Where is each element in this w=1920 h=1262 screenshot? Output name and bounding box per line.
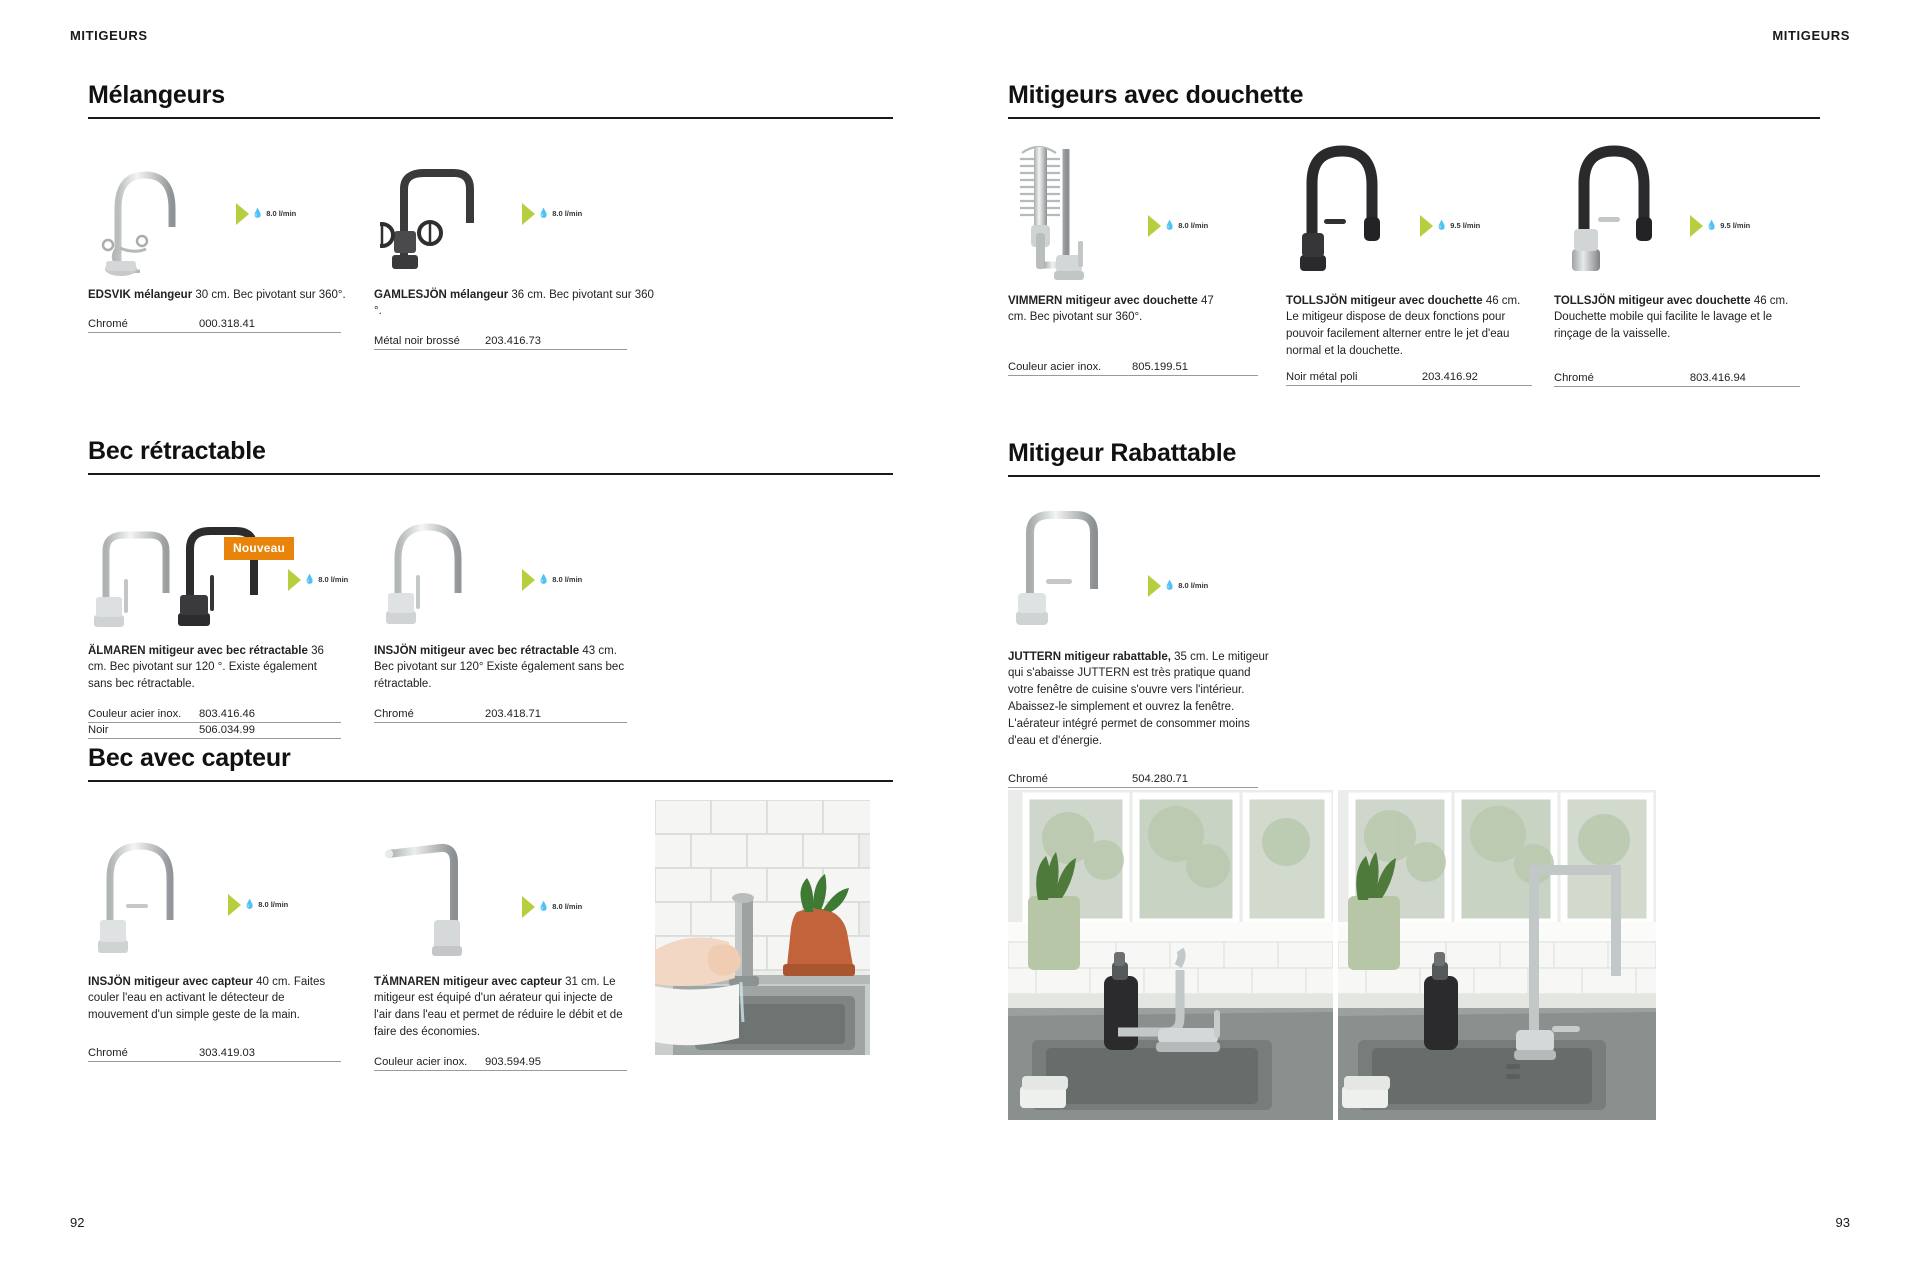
variant-row[interactable]: Chromé 203.418.71 [374, 707, 627, 723]
variant-label: Couleur acier inox. [374, 1056, 467, 1068]
product-row: Nouveau 💧 8.0 l/min ÄLMAREN mitigeur ave… [88, 497, 893, 740]
running-head-left: MITIGEURS [70, 28, 148, 43]
photo-illustration [1338, 790, 1656, 1120]
faucet-almaren-black-icon [174, 503, 284, 635]
product-gamlesjon[interactable]: 💧 8.0 l/min GAMLESJÖN mélangeur 36 cm. B… [374, 141, 660, 351]
water-drop-icon: 💧 [538, 209, 549, 218]
badge-nouveau: Nouveau [224, 537, 294, 560]
product-description: 30 cm. Bec pivotant sur 360°. [195, 289, 345, 301]
faucet-tollsjon-black-icon [1290, 137, 1420, 287]
variant-code: 203.416.92 [1422, 371, 1478, 383]
water-drop-icon: 💧 [1164, 221, 1175, 230]
section-melangeurs: Mélangeurs [88, 82, 893, 350]
variant-row[interactable]: Couleur acier inox. 903.594.95 [374, 1055, 627, 1071]
page-left: MITIGEURS Mélangeurs [0, 0, 960, 1262]
flow-rate-value: 8.0 l/min [552, 209, 582, 218]
flow-rate-badge: 💧 8.0 l/min [1148, 215, 1208, 237]
flow-arrow-icon [522, 896, 535, 918]
product-image-tollsjon-chrome: 💧 9.5 l/min [1554, 137, 1820, 287]
product-insjon-sensor[interactable]: 💧 8.0 l/min INSJÖN mitigeur avec capteur… [88, 818, 374, 1072]
section-mitigeur-rabattable: Mitigeur Rabattable [1008, 440, 1820, 788]
product-tollsjon-chrome[interactable]: 💧 9.5 l/min TOLLSJÖN mitigeur avec douch… [1554, 137, 1820, 388]
product-insjon-retractable[interactable]: 💧 8.0 l/min INSJÖN mitigeur avec bec rét… [374, 497, 660, 740]
product-description: 35 cm. Le mitigeur qui s'abaisse JUTTERN… [1008, 651, 1269, 747]
product-caption: TÄMNAREN mitigeur avec capteur 31 cm. Le… [374, 974, 626, 1042]
product-image-juttern: 💧 8.0 l/min [1008, 493, 1286, 643]
product-name: ÄLMAREN mitigeur avec bec rétractable [88, 645, 308, 657]
product-caption: GAMLESJÖN mélangeur 36 cm. Bec pivotant … [374, 287, 660, 321]
flow-rate-badge: 💧 8.0 l/min [522, 569, 582, 591]
variant-list: Noir métal poli 203.416.92 [1286, 370, 1532, 386]
variant-row[interactable]: Couleur acier inox. 803.416.46 [88, 707, 341, 723]
product-vimmern[interactable]: 💧 8.0 l/min VIMMERN mitigeur avec douche… [1008, 137, 1286, 388]
product-name: INSJÖN mitigeur avec bec rétractable [374, 645, 579, 657]
product-image-insjon-sensor: 💧 8.0 l/min [88, 818, 374, 968]
variant-list: Métal noir brossé 203.416.73 [374, 334, 627, 350]
variant-code: 203.418.71 [485, 708, 541, 720]
product-caption: ÄLMAREN mitigeur avec bec rétractable 36… [88, 643, 340, 694]
section-rule [1008, 475, 1820, 477]
section-bec-retractable: Bec rétractable [88, 438, 893, 739]
product-caption: TOLLSJÖN mitigeur avec douchette 46 cm. … [1554, 293, 1802, 344]
variant-label: Couleur acier inox. [1008, 361, 1101, 373]
variant-list: Chromé 203.418.71 [374, 707, 627, 723]
flow-arrow-icon [1690, 215, 1703, 237]
water-drop-icon: 💧 [1436, 221, 1447, 230]
page-number-left: 92 [70, 1215, 84, 1230]
page-number-right: 93 [1836, 1215, 1850, 1230]
variant-label: Chromé [1008, 773, 1048, 785]
section-rule [1008, 117, 1820, 119]
variant-row[interactable]: Noir 506.034.99 [88, 723, 341, 739]
water-drop-icon: 💧 [1164, 581, 1175, 590]
variant-label: Couleur acier inox. [88, 708, 181, 720]
running-head-right: MITIGEURS [1772, 28, 1850, 43]
flow-arrow-icon [228, 894, 241, 916]
flow-rate-badge: 💧 8.0 l/min [288, 569, 348, 591]
faucet-tollsjon-chrome-icon [1562, 137, 1692, 287]
product-row: 💧 8.0 l/min EDSVIK mélangeur 30 cm. Bec … [88, 141, 893, 351]
flow-rate-badge: 💧 8.0 l/min [522, 896, 582, 918]
variant-list: Chromé 303.419.03 [88, 1046, 341, 1062]
section-title: Mitigeur Rabattable [1008, 440, 1820, 475]
product-image-almaren: Nouveau 💧 8.0 l/min [88, 497, 374, 637]
product-name: VIMMERN mitigeur avec douchette [1008, 295, 1198, 307]
section-mitigeurs-avec-douchette: Mitigeurs avec douchette [1008, 82, 1820, 387]
product-caption: INSJÖN mitigeur avec bec rétractable 43 … [374, 643, 626, 694]
variant-list: Couleur acier inox. 803.416.46 Noir 506.… [88, 707, 341, 739]
product-image-edsvik: 💧 8.0 l/min [88, 141, 374, 281]
product-name: TÄMNAREN mitigeur avec capteur [374, 976, 562, 988]
faucet-insjon-icon [380, 501, 490, 635]
product-row: 💧 8.0 l/min VIMMERN mitigeur avec douche… [1008, 137, 1820, 388]
flow-arrow-icon [522, 569, 535, 591]
product-almaren[interactable]: Nouveau 💧 8.0 l/min ÄLMAREN mitigeur ave… [88, 497, 374, 740]
variant-row[interactable]: Chromé 803.416.94 [1554, 371, 1800, 387]
variant-code: 803.416.46 [199, 708, 255, 720]
variant-row[interactable]: Noir métal poli 203.416.92 [1286, 370, 1532, 386]
product-caption: JUTTERN mitigeur rabattable, 35 cm. Le m… [1008, 649, 1270, 750]
flow-rate-value: 8.0 l/min [552, 575, 582, 584]
water-drop-icon: 💧 [1706, 221, 1717, 230]
product-image-tamnaren: 💧 8.0 l/min [374, 818, 660, 968]
product-name: GAMLESJÖN mélangeur [374, 289, 508, 301]
variant-list: Couleur acier inox. 805.199.51 [1008, 360, 1258, 376]
flow-rate-value: 8.0 l/min [266, 209, 296, 218]
product-juttern[interactable]: 💧 8.0 l/min JUTTERN mitigeur rabattable,… [1008, 493, 1286, 788]
faucet-insjon-sensor-icon [94, 824, 204, 964]
flow-rate-value: 9.5 l/min [1720, 221, 1750, 230]
variant-row[interactable]: Métal noir brossé 203.416.73 [374, 334, 627, 350]
flow-rate-value: 8.0 l/min [552, 902, 582, 911]
variant-code: 303.419.03 [199, 1047, 255, 1059]
variant-code: 805.199.51 [1132, 361, 1188, 373]
variant-code: 504.280.71 [1132, 773, 1188, 785]
flow-rate-badge: 💧 8.0 l/min [1148, 575, 1208, 597]
flow-rate-value: 8.0 l/min [1178, 581, 1208, 590]
faucet-gamlesjon-icon [380, 145, 500, 280]
flow-arrow-icon [236, 203, 249, 225]
flow-rate-value: 9.5 l/min [1450, 221, 1480, 230]
faucet-vimmern-icon [1010, 137, 1140, 287]
variant-row[interactable]: Couleur acier inox. 805.199.51 [1008, 360, 1258, 376]
water-drop-icon: 💧 [252, 209, 263, 218]
section-title: Mélangeurs [88, 82, 893, 117]
product-image-insjon-retractable: 💧 8.0 l/min [374, 497, 660, 637]
variant-code: 000.318.41 [199, 318, 255, 330]
variant-label: Noir [88, 724, 109, 736]
variant-row[interactable]: Chromé 000.318.41 [88, 317, 341, 333]
flow-rate-value: 8.0 l/min [258, 900, 288, 909]
water-drop-icon: 💧 [538, 902, 549, 911]
product-image-tollsjon-black: 💧 9.5 l/min [1286, 137, 1554, 287]
product-name: JUTTERN mitigeur rabattable, [1008, 651, 1171, 663]
product-name: INSJÖN mitigeur avec capteur [88, 976, 253, 988]
product-name: EDSVIK mélangeur [88, 289, 192, 301]
variant-code: 203.416.73 [485, 335, 541, 347]
variant-label: Chromé [88, 1047, 128, 1059]
variant-list: Chromé 000.318.41 [88, 317, 341, 333]
flow-rate-badge: 💧 8.0 l/min [236, 203, 296, 225]
product-caption: EDSVIK mélangeur 30 cm. Bec pivotant sur… [88, 287, 374, 304]
product-tollsjon-black[interactable]: 💧 9.5 l/min TOLLSJÖN mitigeur avec douch… [1286, 137, 1554, 388]
flow-arrow-icon [1420, 215, 1433, 237]
product-row: 💧 8.0 l/min JUTTERN mitigeur rabattable,… [1008, 493, 1820, 788]
section-title: Bec rétractable [88, 438, 893, 473]
flow-arrow-icon [1148, 215, 1161, 237]
flow-rate-value: 8.0 l/min [318, 575, 348, 584]
flow-rate-badge: 💧 8.0 l/min [228, 894, 288, 916]
variant-label: Noir métal poli [1286, 371, 1358, 383]
variant-code: 803.416.94 [1690, 372, 1746, 384]
flow-rate-badge: 💧 8.0 l/min [522, 203, 582, 225]
variant-row[interactable]: Chromé 504.280.71 [1008, 772, 1258, 788]
faucet-edsvik-icon [98, 149, 208, 279]
section-rule [88, 473, 893, 475]
water-drop-icon: 💧 [304, 575, 315, 584]
flow-arrow-icon [1148, 575, 1161, 597]
variant-label: Métal noir brossé [374, 335, 460, 347]
product-tamnaren[interactable]: 💧 8.0 l/min TÄMNAREN mitigeur avec capte… [374, 818, 660, 1072]
photo-main-sensor-faucet [655, 800, 870, 1055]
flow-rate-badge: 💧 9.5 l/min [1420, 215, 1480, 237]
faucet-juttern-icon [1012, 497, 1142, 645]
variant-list: Couleur acier inox. 903.594.95 [374, 1055, 627, 1071]
variant-row[interactable]: Chromé 303.419.03 [88, 1046, 341, 1062]
photo-kitchen-sink-right [1338, 790, 1656, 1120]
water-drop-icon: 💧 [538, 575, 549, 584]
variant-code: 506.034.99 [199, 724, 255, 736]
water-drop-icon: 💧 [244, 900, 255, 909]
section-rule [88, 780, 893, 782]
variant-label: Chromé [1554, 372, 1594, 384]
product-image-gamlesjon: 💧 8.0 l/min [374, 141, 660, 281]
flow-arrow-icon [522, 203, 535, 225]
product-name: TOLLSJÖN mitigeur avec douchette [1286, 295, 1483, 307]
product-caption: TOLLSJÖN mitigeur avec douchette 46 cm. … [1286, 293, 1526, 361]
variant-label: Chromé [88, 318, 128, 330]
flow-rate-value: 8.0 l/min [1178, 221, 1208, 230]
product-image-vimmern: 💧 8.0 l/min [1008, 137, 1286, 287]
faucet-tamnaren-icon [378, 824, 498, 964]
variant-list: Chromé 504.280.71 [1008, 772, 1258, 788]
flow-rate-badge: 💧 9.5 l/min [1690, 215, 1750, 237]
variant-code: 903.594.95 [485, 1056, 541, 1068]
section-title: Mitigeurs avec douchette [1008, 82, 1820, 117]
product-caption: VIMMERN mitigeur avec douchette 47 cm. B… [1008, 293, 1226, 327]
section-title: Bec avec capteur [88, 745, 893, 780]
photo-illustration [655, 800, 870, 1055]
product-name: TOLLSJÖN mitigeur avec douchette [1554, 295, 1751, 307]
variant-list: Chromé 803.416.94 [1554, 371, 1800, 387]
variant-label: Chromé [374, 708, 414, 720]
flow-arrow-icon [288, 569, 301, 591]
page-right: MITIGEURS Mitigeurs avec douchette [960, 0, 1920, 1262]
photo-illustration [1008, 790, 1333, 1120]
section-rule [88, 117, 893, 119]
product-caption: INSJÖN mitigeur avec capteur 40 cm. Fait… [88, 974, 340, 1025]
product-edsvik[interactable]: 💧 8.0 l/min EDSVIK mélangeur 30 cm. Bec … [88, 141, 374, 351]
catalog-spread: MITIGEURS Mélangeurs [0, 0, 1920, 1262]
photo-kitchen-sink-left [1008, 790, 1333, 1120]
